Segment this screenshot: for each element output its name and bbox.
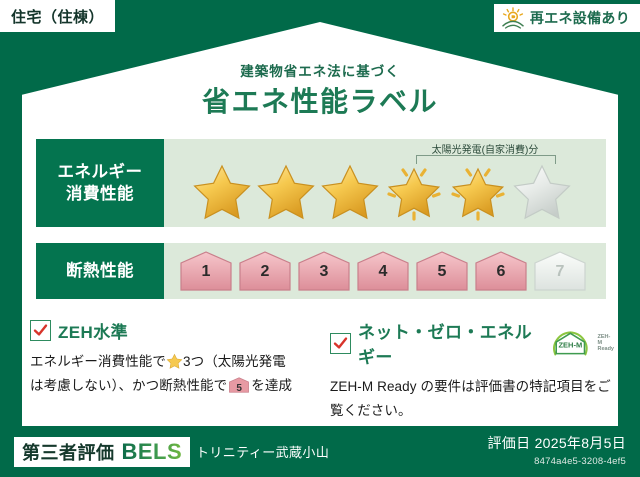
energy-star-6-empty — [511, 161, 573, 221]
insulation-grade-3: 3 — [296, 250, 352, 292]
star-filled-icon — [191, 161, 253, 221]
inline-grade-value: 5 — [227, 380, 251, 398]
zeh-criteria-header: ZEH水準 — [30, 318, 314, 343]
star-filled-solar-icon — [383, 161, 445, 221]
star-filled-icon — [319, 161, 381, 221]
nzeb-criteria-header: ネット・ゼロ・エネルギー ZEH-M ZEH-M Ready — [330, 318, 614, 368]
check-icon — [333, 336, 348, 351]
dwelling-type-label: 住宅（住棟） — [11, 6, 104, 27]
evaluation-id: 8474a4e5-3208-4ef5 — [534, 456, 626, 467]
zeh-criteria-text: エネルギー消費性能で3つ（太陽光発電 は考慮しない）、かつ断熱性能で5を達成 — [30, 350, 314, 397]
insulation-grade-label: 1 — [178, 263, 234, 281]
check-icon — [33, 323, 48, 338]
inline-star-icon — [166, 353, 183, 369]
insulation-grade-label: 4 — [355, 263, 411, 281]
nzeb-criteria-block: ネット・ゼロ・エネルギー ZEH-M ZEH-M Ready ZEH-M Rea… — [330, 318, 614, 422]
insulation-grade-1: 1 — [178, 250, 234, 292]
insulation-grade-label: 2 — [237, 263, 293, 281]
insulation-grade-label: 5 — [414, 263, 470, 281]
renewable-equipment-label: 再エネ設備あり — [530, 8, 630, 28]
building-name: トリニティー武蔵小山 — [196, 442, 329, 461]
nzeb-criteria-text: ZEH-M Ready の要件は評価書の特記項目をご覧ください。 — [330, 375, 614, 422]
solar-sun-icon — [500, 7, 526, 29]
insulation-grade-6: 6 — [473, 250, 529, 292]
star-empty-icon — [511, 161, 573, 221]
zeh-checkbox — [30, 320, 51, 341]
insulation-grade-scale: 1 2 3 4 — [178, 250, 588, 292]
energy-key-line2: 消費性能 — [66, 183, 134, 205]
energy-performance-key: エネルギー 消費性能 — [36, 139, 164, 227]
bels-en-label: BELS — [122, 439, 183, 465]
energy-performance-value: 太陽光発電(自家消費)分 — [164, 139, 606, 227]
evaluation-date: 評価日 2025年8月5日 — [487, 433, 626, 453]
svg-text:ZEH-M: ZEH-M — [558, 340, 582, 349]
bels-certification-badge: 第三者評価 BELS — [14, 437, 190, 467]
zeh-m-logo-icon: ZEH-M — [550, 328, 591, 358]
energy-performance-row: エネルギー 消費性能 太陽光発電(自家消費)分 — [36, 139, 606, 227]
energy-key-line1: エネルギー — [58, 161, 143, 183]
zeh-text-b: 3つ（太陽光発電 — [183, 354, 286, 369]
zeh-criteria-block: ZEH水準 エネルギー消費性能で3つ（太陽光発電 は考慮しない）、かつ断熱性能で… — [30, 318, 314, 397]
zeh-text-d: を達成 — [251, 378, 292, 393]
zeh-m-caption-line1: ZEH-M — [597, 334, 610, 346]
insulation-grade-7-inactive: 7 — [532, 250, 588, 292]
star-filled-solar-icon — [447, 161, 509, 221]
insulation-grade-4: 4 — [355, 250, 411, 292]
zeh-m-logo-caption: ZEH-M Ready — [597, 334, 614, 353]
star-filled-icon — [255, 161, 317, 221]
insulation-key-label: 断熱性能 — [66, 260, 134, 282]
dwelling-type-tag: 住宅（住棟） — [0, 0, 115, 32]
renewable-equipment-badge: 再エネ設備あり — [494, 4, 640, 32]
bels-jp-label: 第三者評価 — [22, 439, 115, 465]
energy-star-1 — [191, 161, 253, 221]
insulation-grade-5: 5 — [414, 250, 470, 292]
energy-star-3 — [319, 161, 381, 221]
insulation-grade-label: 7 — [532, 263, 588, 281]
label-subtitle: 建築物省エネ法に基づく — [0, 60, 640, 80]
energy-star-5-solar — [447, 161, 509, 221]
energy-star-4-solar — [383, 161, 445, 221]
energy-label-card: 住宅（住棟） 再エネ設備あり 建築物省エネ法に基づく 省エネ性能ラベル エネルギ… — [0, 0, 640, 477]
insulation-performance-row: 断熱性能 1 2 — [36, 243, 606, 299]
insulation-grade-label: 3 — [296, 263, 352, 281]
label-title: 省エネ性能ラベル — [0, 80, 640, 120]
nzeb-criteria-title: ネット・ゼロ・エネルギー — [358, 318, 543, 368]
insulation-performance-key: 断熱性能 — [36, 243, 164, 299]
solar-annotation-label: 太陽光発電(自家消費)分 — [410, 141, 560, 156]
insulation-performance-value: 1 2 3 4 — [164, 243, 606, 299]
zeh-criteria-title: ZEH水準 — [58, 318, 128, 343]
insulation-grade-2: 2 — [237, 250, 293, 292]
insulation-grade-label: 6 — [473, 263, 529, 281]
label-footer: 第三者評価 BELS トリニティー武蔵小山 評価日 2025年8月5日 8474… — [0, 427, 640, 477]
zeh-m-caption-line2: Ready — [597, 346, 614, 352]
inline-insulation-grade-badge: 5 — [227, 377, 251, 393]
energy-star-2 — [255, 161, 317, 221]
zeh-text-a: エネルギー消費性能で — [30, 354, 166, 369]
zeh-text-c: は考慮しない）、かつ断熱性能で — [30, 378, 227, 393]
energy-star-rating — [191, 161, 573, 221]
nzeb-checkbox — [330, 333, 351, 354]
